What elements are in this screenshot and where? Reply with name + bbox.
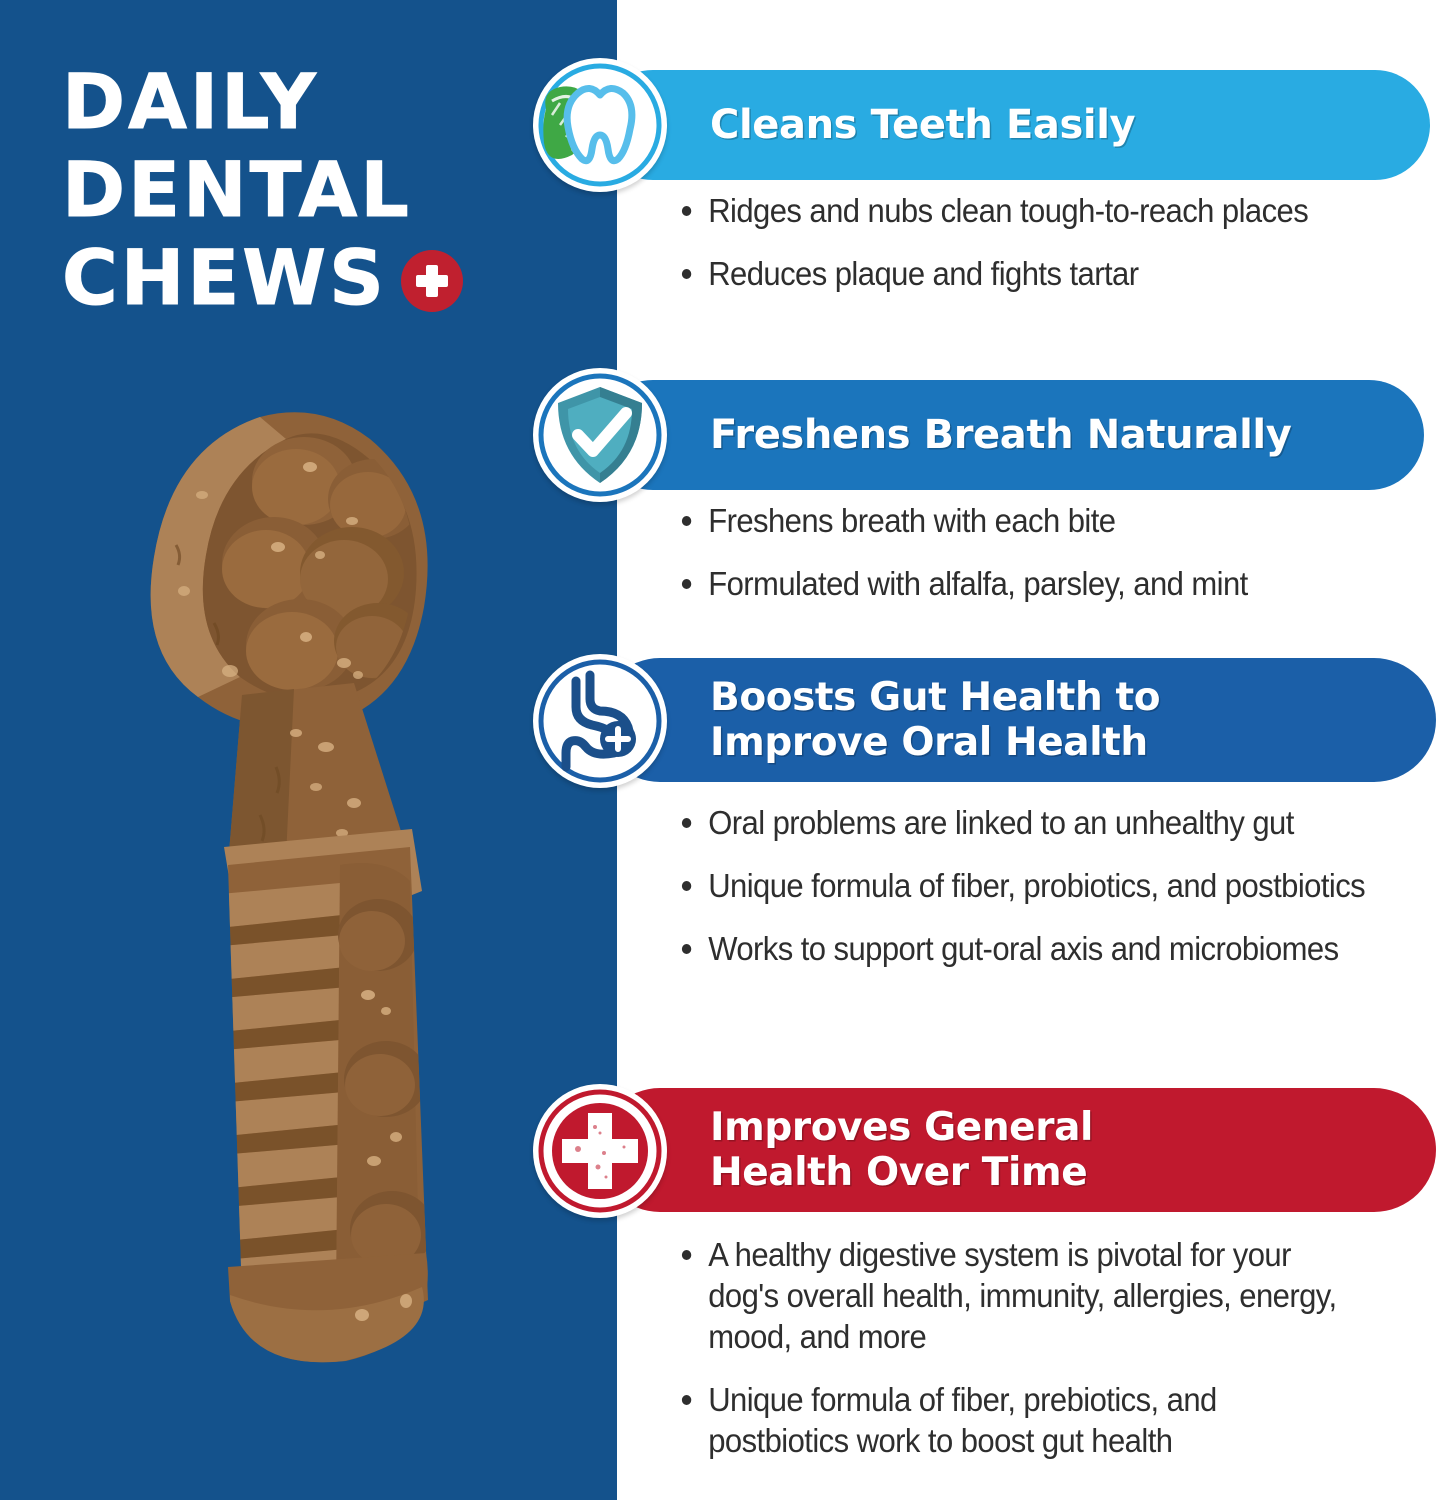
section-header-row: Cleans Teeth Easily: [0, 62, 1444, 188]
list-item: Works to support gut-oral axis and micro…: [680, 928, 1380, 969]
headline-text-line-1: Improves General: [710, 1105, 1093, 1150]
list-item: Unique formula of fiber, prebiotics, and…: [680, 1379, 1357, 1461]
headline-pill-cleans-teeth: Cleans Teeth Easily: [598, 70, 1430, 180]
headline-text-line-2: Improve Oral Health: [710, 720, 1160, 765]
chew-bottom-cap: [228, 1253, 428, 1362]
list-item: Reduces plaque and fights tartar: [680, 253, 1394, 294]
headline-text: Cleans Teeth Easily: [710, 102, 1135, 148]
headline-text-line-1: Boosts Gut Health to: [710, 675, 1160, 720]
headline-pill-gut-health: Boosts Gut Health to Improve Oral Health: [598, 658, 1436, 782]
shield-check-icon: [533, 368, 667, 502]
list-item: Ridges and nubs clean tough-to-reach pla…: [680, 190, 1394, 231]
section-cleans-teeth: Cleans Teeth Easily: [0, 62, 1444, 188]
headline-pill-general-health: Improves General Health Over Time: [598, 1088, 1436, 1212]
list-item: Freshens breath with each bite: [680, 500, 1394, 541]
title-line-3: CHEWS: [62, 234, 387, 322]
list-item: Oral problems are linked to an unhealthy…: [680, 802, 1380, 843]
section-general-health: Improves General Health Over Time: [0, 1086, 1444, 1226]
list-item: A healthy digestive system is pivotal fo…: [680, 1234, 1357, 1357]
section-header-row: Improves General Health Over Time: [0, 1086, 1444, 1226]
medical-plus-icon: [401, 250, 463, 312]
bullet-list: A healthy digestive system is pivotal fo…: [680, 1234, 1400, 1483]
list-item: Unique formula of fiber, probiotics, and…: [680, 865, 1380, 906]
section-header-row: Boosts Gut Health to Improve Oral Health: [0, 656, 1444, 796]
section-header-row: Freshens Breath Naturally: [0, 372, 1444, 498]
bullet-list: Freshens breath with each bite Formulate…: [680, 500, 1440, 626]
dog-dental-chew-illustration: [110, 395, 510, 1385]
section-gut-health: Boosts Gut Health to Improve Oral Health: [0, 656, 1444, 796]
bullet-list: Ridges and nubs clean tough-to-reach pla…: [680, 190, 1440, 316]
stomach-plus-icon: [533, 654, 667, 788]
section-freshens-breath: Freshens Breath Naturally Freshens breat…: [0, 372, 1444, 498]
chew-ridged-body: [210, 835, 450, 1325]
tooth-leaf-icon: [533, 58, 667, 192]
title-line-3-row: CHEWS: [62, 234, 482, 322]
headline-text-line-2: Health Over Time: [710, 1150, 1093, 1195]
headline-pill-freshens-breath: Freshens Breath Naturally: [598, 380, 1424, 490]
headline-text: Freshens Breath Naturally: [710, 412, 1291, 458]
medical-cross-circle-icon: [533, 1084, 667, 1218]
infographic-page: DAILY DENTAL CHEWS: [0, 0, 1444, 1500]
list-item: Formulated with alfalfa, parsley, and mi…: [680, 563, 1394, 604]
bullet-list: Oral problems are linked to an unhealthy…: [680, 802, 1425, 991]
